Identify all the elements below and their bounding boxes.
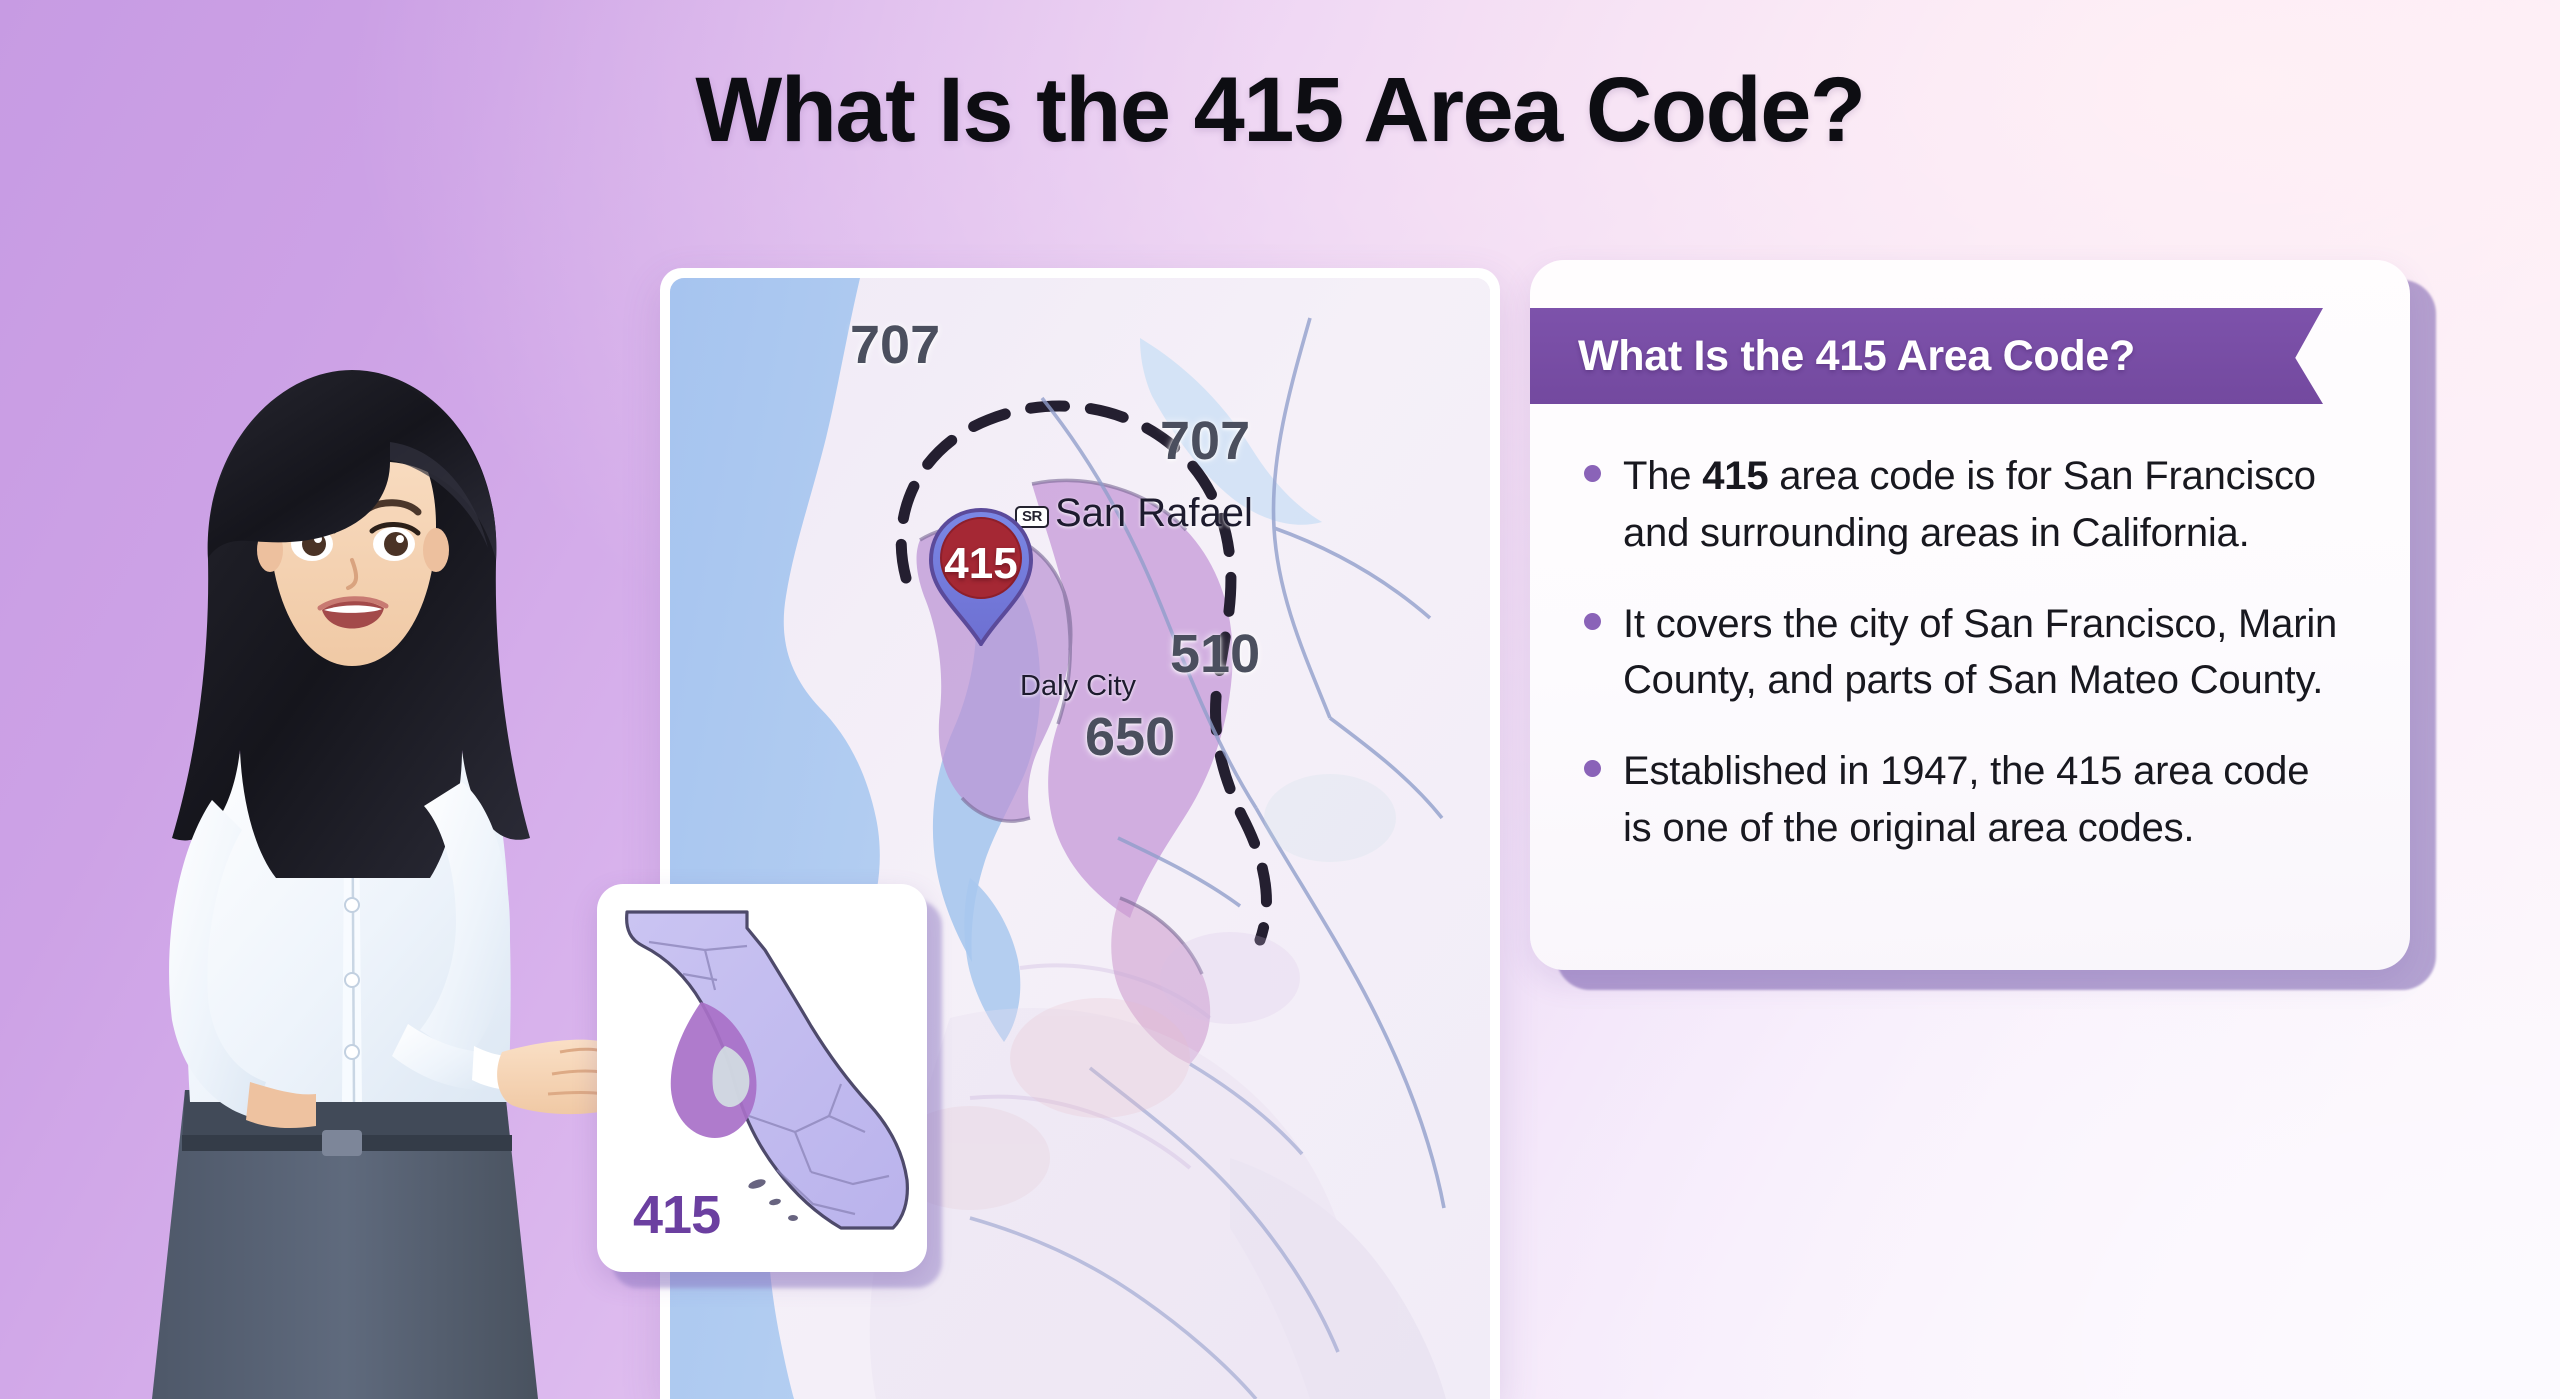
infographic-stage: What Is the 415 Area Code? — [0, 0, 2560, 1399]
list-item: It covers the city of San Francisco, Mar… — [1584, 596, 2370, 710]
info-card: What Is the 415 Area Code? The 415 area … — [1530, 260, 2410, 970]
list-item: The 415 area code is for San Francisco a… — [1584, 448, 2370, 562]
city-label-san-rafael: San Rafael — [1055, 492, 1253, 535]
map-pin-label: 415 — [925, 539, 1037, 589]
bullet-dot-icon — [1584, 760, 1601, 777]
info-card-title: What Is the 415 Area Code? — [1578, 332, 2135, 381]
map-pin-415[interactable]: 415 — [925, 506, 1037, 646]
info-card-bullet-list: The 415 area code is for San Francisco a… — [1584, 448, 2370, 891]
bullet-dot-icon — [1584, 613, 1601, 630]
page-title: What Is the 415 Area Code? — [0, 58, 2560, 163]
info-card-ribbon: What Is the 415 Area Code? — [1530, 308, 2323, 404]
city-label-daly-city: Daly City — [1020, 670, 1136, 703]
list-item: Established in 1947, the 415 area code i… — [1584, 743, 2370, 857]
bullet-text-2: It covers the city of San Francisco, Mar… — [1623, 596, 2341, 710]
presenter-illustration — [90, 330, 610, 1399]
bullet-dot-icon — [1584, 465, 1601, 482]
bullet-text-3: Established in 1947, the 415 area code i… — [1623, 743, 2341, 857]
inset-area-code-label: 415 — [633, 1184, 720, 1246]
california-inset-card[interactable]: 415 — [597, 884, 927, 1272]
bullet-text-1: The 415 area code is for San Francisco a… — [1623, 448, 2341, 562]
